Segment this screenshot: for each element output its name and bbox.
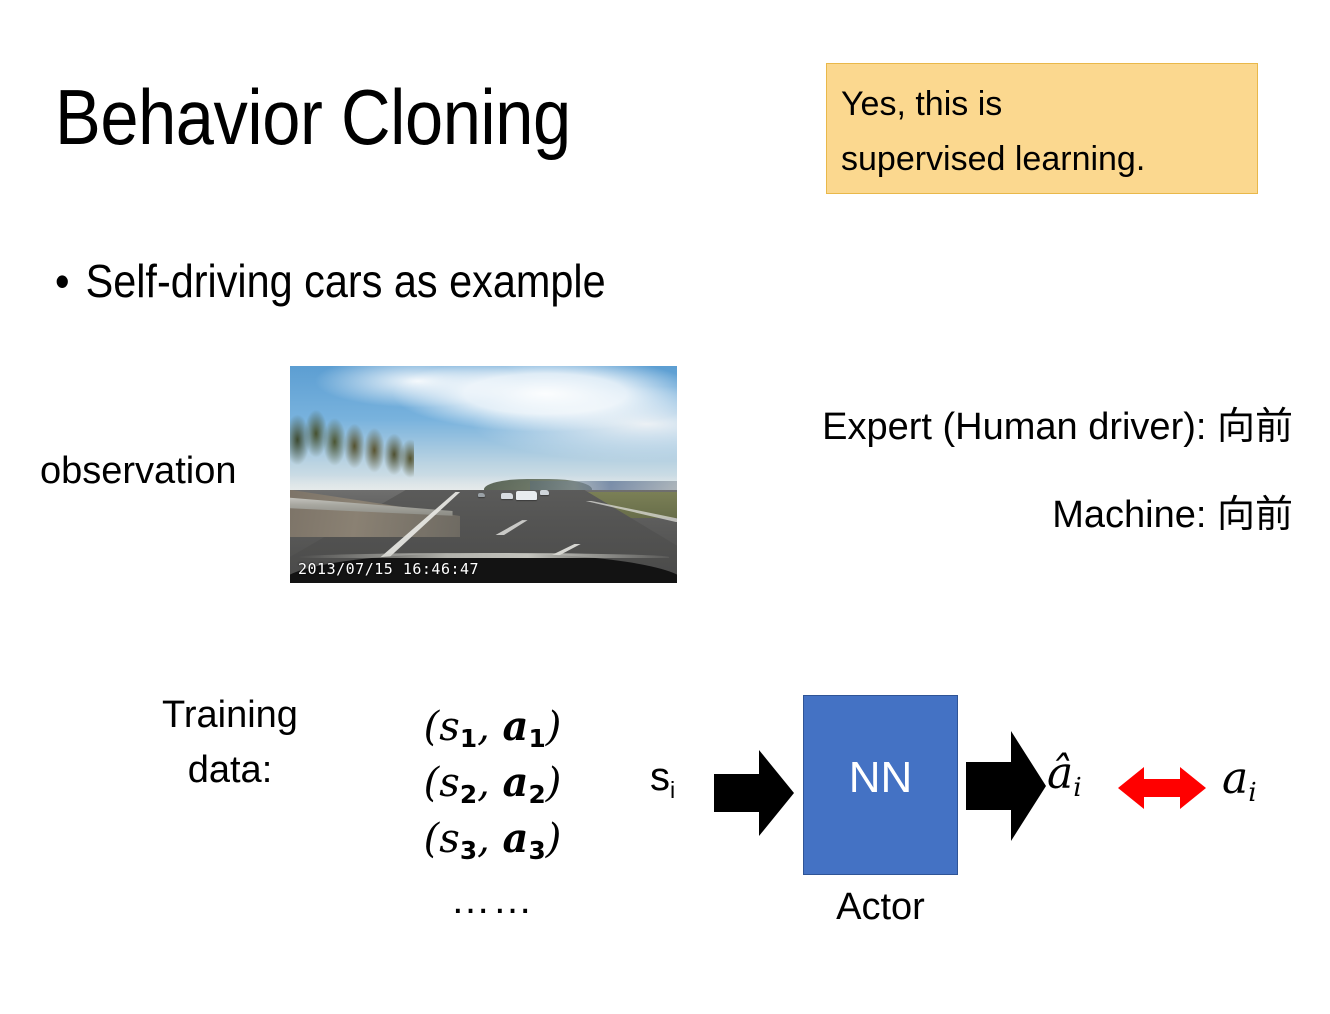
- pair-close-paren: ): [546, 704, 562, 750]
- training-pairs-ellipsis: ……: [400, 880, 585, 920]
- pair-action-symbol: a: [503, 703, 529, 750]
- training-data-label-line1: Training: [140, 688, 320, 743]
- pair-state-subscript: 1: [460, 724, 477, 753]
- pair-state-symbol: s: [439, 704, 460, 750]
- training-pair-row: (s2, a2): [400, 756, 585, 812]
- pair-action-subscript: 2: [528, 780, 545, 809]
- predicted-action-label: âi: [1047, 752, 1082, 801]
- pair-action-subscript: 3: [528, 836, 545, 865]
- training-pair-row: (s1, a1): [400, 700, 585, 756]
- pair-action-symbol: a: [503, 815, 529, 862]
- photo-vehicle-lead: [516, 491, 537, 501]
- pair-open-paren: (: [424, 816, 440, 862]
- target-action-symbol: a: [1222, 753, 1248, 804]
- neural-network-label: NN: [804, 756, 957, 800]
- network-input-label: si: [650, 757, 675, 802]
- pair-open-paren: (: [424, 760, 440, 806]
- bullet-item: •Self-driving cars as example: [55, 258, 606, 304]
- training-pairs-list: (s1, a1) (s2, a2) (s3, a3) ……: [400, 700, 585, 920]
- training-data-label: Training data:: [140, 688, 320, 798]
- pair-open-paren: (: [424, 704, 440, 750]
- training-data-label-line2: data:: [140, 743, 320, 798]
- expert-action-line: Expert (Human driver): 向前: [600, 408, 1293, 446]
- input-arrow-icon: [714, 750, 794, 836]
- page-title: Behavior Cloning: [55, 78, 571, 156]
- slide-canvas: Behavior Cloning Yes, this is supervised…: [0, 0, 1330, 1014]
- callout-line-2: supervised learning.: [841, 142, 1145, 176]
- callout-line-1: Yes, this is: [841, 87, 1002, 121]
- pair-comma: ,: [477, 816, 502, 862]
- pair-state-symbol: s: [439, 816, 460, 862]
- pair-state-symbol: s: [439, 760, 460, 806]
- machine-action-line: Machine: 向前: [600, 496, 1293, 534]
- pair-comma: ,: [477, 760, 502, 806]
- pair-comma: ,: [477, 704, 502, 750]
- bullet-item-label: Self-driving cars as example: [86, 255, 606, 307]
- photo-vehicle-right: [540, 490, 549, 495]
- pair-close-paren: ): [546, 816, 562, 862]
- pair-state-subscript: 2: [460, 780, 477, 809]
- observation-label: observation: [40, 452, 236, 490]
- bullet-dot-icon: •: [55, 258, 86, 304]
- photo-hood-glint: [298, 553, 670, 558]
- neural-network-box[interactable]: NN: [803, 695, 958, 875]
- predicted-action-subscript: i: [1073, 772, 1081, 803]
- target-action-label: ai: [1222, 757, 1257, 806]
- network-input-symbol: s: [650, 755, 670, 799]
- target-action-subscript: i: [1248, 777, 1256, 808]
- actor-caption: Actor: [803, 888, 958, 926]
- callout-box: Yes, this is supervised learning.: [826, 63, 1258, 194]
- photo-timestamp: 2013/07/15 16:46:47: [298, 560, 479, 578]
- pair-state-subscript: 3: [460, 836, 477, 865]
- training-pair-row: (s3, a3): [400, 812, 585, 868]
- pair-action-subscript: 1: [528, 724, 545, 753]
- predicted-action-symbol: â: [1047, 748, 1073, 799]
- network-input-subscript: i: [670, 777, 675, 803]
- pair-action-symbol: a: [503, 759, 529, 806]
- photo-vehicle-distant: [478, 493, 486, 497]
- output-arrow-icon: [966, 731, 1046, 841]
- pair-close-paren: ): [546, 760, 562, 806]
- action-labels: Expert (Human driver): 向前 Machine: 向前: [600, 408, 1293, 534]
- photo-vehicle-mid: [501, 493, 513, 499]
- comparison-arrow-icon: [1118, 765, 1206, 811]
